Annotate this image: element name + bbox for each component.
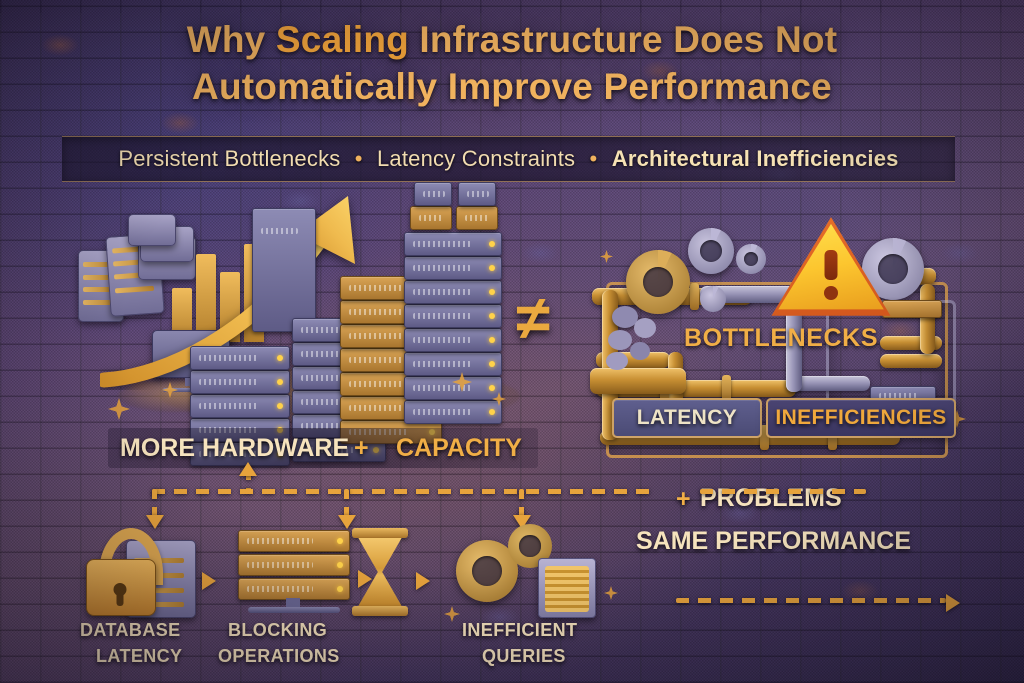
vignette-overlay bbox=[0, 0, 1024, 683]
infographic-canvas: MORE HARDWARE + CAPACITY ≠ bbox=[0, 0, 1024, 683]
